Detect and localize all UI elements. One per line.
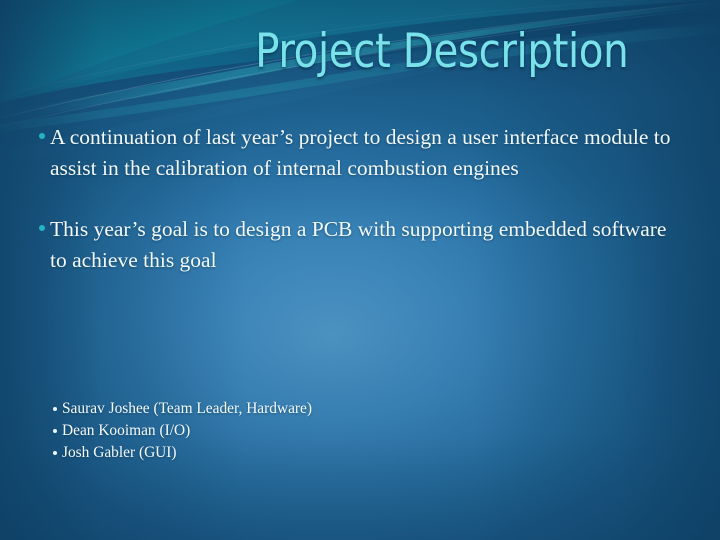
bullet-text: A continuation of last year’s project to… (50, 125, 671, 180)
team-member-name: Saurav Joshee (Team Leader, Hardware) (62, 400, 312, 417)
slide-title: Project Description (50, 22, 669, 82)
team-member-name: Dean Kooiman (I/O) (62, 422, 190, 439)
bullet-item: A continuation of last year’s project to… (36, 122, 676, 184)
team-member-name: Josh Gabler (GUI) (62, 444, 177, 461)
presentation-slide: Project Description A continuation of la… (0, 0, 720, 540)
bullet-dot-icon (39, 225, 45, 231)
bullet-dot-icon (53, 407, 57, 411)
bullet-dot-icon (39, 133, 45, 139)
slide-body: A continuation of last year’s project to… (36, 122, 676, 306)
bullet-dot-icon (53, 429, 57, 433)
team-member-list: Saurav Joshee (Team Leader, Hardware) De… (52, 398, 572, 464)
list-item: Saurav Joshee (Team Leader, Hardware) (52, 398, 572, 420)
list-item: Josh Gabler (GUI) (52, 442, 572, 464)
bullet-text: This year’s goal is to design a PCB with… (50, 217, 666, 272)
list-item: Dean Kooiman (I/O) (52, 420, 572, 442)
bullet-dot-icon (53, 451, 57, 455)
bullet-item: This year’s goal is to design a PCB with… (36, 214, 676, 276)
